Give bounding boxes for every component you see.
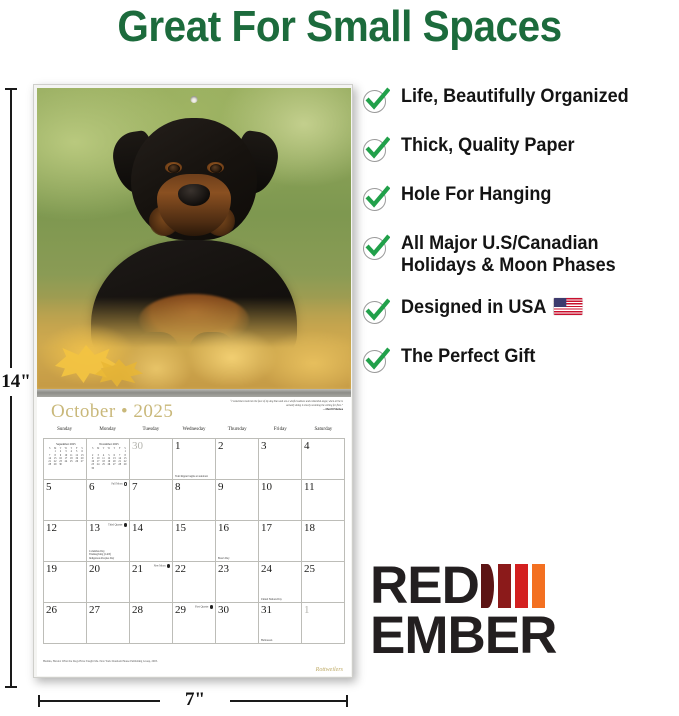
day-number: 19: [46, 563, 84, 575]
calendar-week-row: 192021New Moon222324United Nations Day25: [44, 562, 345, 603]
calendar-day-cell[interactable]: 17: [259, 521, 302, 562]
feature-label: Hole For Hanging: [401, 184, 551, 206]
logo-bar-1: [481, 564, 494, 608]
check-circle-icon: [362, 298, 390, 326]
calendar-day-cell[interactable]: 29First Quarter: [173, 603, 216, 644]
day-number: 3: [261, 440, 299, 452]
calendar-day-cell[interactable]: 15: [173, 521, 216, 562]
feature-label: Designed in USA: [401, 297, 583, 319]
day-number: 11: [304, 481, 342, 493]
logo-bar-2: [498, 564, 511, 608]
day-number: 25: [304, 563, 342, 575]
calendar-day-cell[interactable]: 24United Nations Day: [259, 562, 302, 603]
day-number: 2: [218, 440, 256, 452]
calendar-day-cell[interactable]: 1Yom Kippur begins at sundown: [173, 439, 216, 480]
day-number: 23: [218, 563, 256, 575]
holiday-event-label: United Nations Day: [261, 598, 299, 601]
calendar-day-cell[interactable]: 31Halloween: [259, 603, 302, 644]
moon-phase-label: New Moon: [154, 564, 170, 568]
feature-label: Thick, Quality Paper: [401, 135, 575, 157]
day-number: 7: [132, 481, 170, 493]
day-number: 10: [261, 481, 299, 493]
feature-item: Designed in USA: [362, 297, 674, 326]
photo-credit: Hashna, Harold. What the Dogs Have Taugh…: [43, 660, 345, 664]
hanging-hole: [191, 96, 198, 103]
check-circle-icon: [362, 185, 390, 213]
logo-text-red: RED: [370, 563, 479, 609]
dimension-height-label: 14": [0, 368, 32, 396]
calendar-day-cell[interactable]: 3: [259, 439, 302, 480]
day-number: 12: [46, 522, 84, 534]
day-header-sunday: Sunday: [43, 427, 86, 438]
mini-day-cell: [79, 463, 84, 466]
dog-eye-right: [210, 164, 222, 173]
day-number: 30: [218, 604, 256, 616]
check-glyph: [364, 136, 390, 162]
day-header-thursday: Thursday: [216, 427, 259, 438]
dimension-width-label: 7": [160, 689, 230, 711]
check-circle-icon: [362, 136, 390, 164]
calendar-day-cell[interactable]: 19: [44, 562, 87, 603]
calendar-week-row: 26272829First Quarter3031Halloween1: [44, 603, 345, 644]
mini-month-grid: SMTWTFS123456789101112131415161718192021…: [47, 447, 85, 467]
event-line: Yom Kippur begins at sundown: [175, 475, 213, 478]
mini-month-title: November 2025: [90, 442, 128, 446]
logo-bar-4: [532, 564, 545, 608]
event-line: Halloween: [261, 639, 299, 642]
calendar-product-image: October • 2025 “I sometimes look into th…: [33, 84, 353, 678]
holiday-event-label: Boss's Day: [218, 557, 256, 560]
day-number: 8: [175, 481, 213, 493]
logo-text-ember: EMBER: [370, 611, 660, 661]
feature-list: Life, Beautifully OrganizedThick, Qualit…: [362, 86, 674, 395]
calendar-day-cell[interactable]: 30: [130, 439, 173, 480]
calendar-day-cell[interactable]: 8: [173, 480, 216, 521]
calendar-day-cell[interactable]: 26: [44, 603, 87, 644]
check-glyph: [364, 87, 390, 113]
moon-phase-label: First Quarter: [195, 605, 213, 609]
calendar-day-cell[interactable]: 13Third QuarterColumbus DayThanksgiving …: [87, 521, 130, 562]
moon-phase-icon: [210, 605, 214, 609]
red-ember-logo: RED EMBER: [370, 563, 660, 661]
feature-item: Hole For Hanging: [362, 184, 674, 213]
calendar-footer: Hashna, Harold. What the Dogs Have Taugh…: [43, 660, 345, 674]
calendar-day-cell[interactable]: 18: [302, 521, 345, 562]
moon-phase-icon: [124, 523, 128, 527]
quote-author: —Merrill Markoe: [225, 408, 343, 412]
day-number: 18: [304, 522, 342, 534]
calendar-day-cell[interactable]: 2: [216, 439, 259, 480]
day-number: 5: [46, 481, 84, 493]
day-header-saturday: Saturday: [302, 427, 345, 438]
mini-month-grid: SMTWTFS123456789101112131415161718192021…: [90, 447, 128, 470]
day-of-week-header-row: SundayMondayTuesdayWednesdayThursdayFrid…: [37, 427, 351, 438]
calendar-day-cell[interactable]: 27: [87, 603, 130, 644]
logo-line-one: RED: [370, 563, 660, 609]
feature-label: Life, Beautifully Organized: [401, 86, 629, 108]
logo-ember-bars: [481, 563, 549, 609]
dog-eye-left: [168, 164, 180, 173]
feature-label: The Perfect Gift: [401, 346, 535, 368]
feature-item: All Major U.S/Canadian Holidays & Moon P…: [362, 233, 674, 277]
calendar-photo-panel: [37, 88, 351, 389]
calendar-day-cell[interactable]: 9: [216, 480, 259, 521]
check-circle-icon: [362, 87, 390, 115]
day-header-monday: Monday: [86, 427, 129, 438]
day-number: 9: [218, 481, 256, 493]
event-line: United Nations Day: [261, 598, 299, 601]
calendar-day-cell[interactable]: 7: [130, 480, 173, 521]
calendar-day-cell[interactable]: September 2025SMTWTFS1234567891011121314…: [44, 439, 87, 480]
check-glyph: [364, 185, 390, 211]
moon-phase-icon: [167, 564, 171, 568]
calendar-quote: “I sometimes look into the face of my do…: [225, 400, 343, 412]
day-header-wednesday: Wednesday: [172, 427, 215, 438]
calendar-day-cell[interactable]: 6Full Moon: [87, 480, 130, 521]
check-glyph: [364, 347, 390, 373]
holiday-event-label: Columbus DayThanksgiving (CAN)Indigenous…: [89, 550, 127, 560]
calendar-day-cell[interactable]: 16Boss's Day: [216, 521, 259, 562]
day-number: 27: [89, 604, 127, 616]
calendar-day-cell[interactable]: 14: [130, 521, 173, 562]
day-number: 24: [261, 563, 299, 575]
calendar-day-cell[interactable]: 23: [216, 562, 259, 603]
usa-flag-icon: [554, 298, 583, 315]
calendar-day-cell[interactable]: 30: [216, 603, 259, 644]
day-number: 31: [261, 604, 299, 616]
feature-item: Thick, Quality Paper: [362, 135, 674, 164]
day-header-tuesday: Tuesday: [129, 427, 172, 438]
breed-name-label: Rottweilers: [316, 667, 343, 673]
calendar-day-cell[interactable]: 11: [302, 480, 345, 521]
feature-item: The Perfect Gift: [362, 346, 674, 375]
mini-month-calendar: November 2025SMTWTFS12345678910111213141…: [90, 442, 128, 470]
day-number: 16: [218, 522, 256, 534]
calendar-week-row: September 2025SMTWTFS1234567891011121314…: [44, 439, 345, 480]
day-number: 26: [46, 604, 84, 616]
calendar-day-cell[interactable]: 25: [302, 562, 345, 603]
calendar-grid-page: October • 2025 “I sometimes look into th…: [37, 397, 351, 676]
event-line: Boss's Day: [218, 557, 256, 560]
calendar-week-row: 1213Third QuarterColumbus DayThanksgivin…: [44, 521, 345, 562]
moon-phase-icon: [124, 482, 128, 486]
check-glyph: [364, 234, 390, 260]
calendar-day-cell[interactable]: 20: [87, 562, 130, 603]
calendar-day-cell[interactable]: 4: [302, 439, 345, 480]
quote-text: “I sometimes look into the face of my do…: [230, 400, 343, 407]
day-number: 1: [175, 440, 213, 452]
day-number: 28: [132, 604, 170, 616]
day-header-friday: Friday: [259, 427, 302, 438]
mini-month-title: September 2025: [47, 442, 85, 446]
check-circle-icon: [362, 347, 390, 375]
holiday-event-label: Halloween: [261, 639, 299, 642]
moon-phase-label: Full Moon: [111, 482, 127, 486]
check-circle-icon: [362, 234, 390, 262]
day-number: 17: [261, 522, 299, 534]
day-number: 1: [304, 604, 342, 616]
mini-day-cell: [122, 467, 127, 470]
feature-item: Life, Beautifully Organized: [362, 86, 674, 115]
calendar-day-cell[interactable]: 1: [302, 603, 345, 644]
calendar-day-cell[interactable]: 28: [130, 603, 173, 644]
moon-phase-label: Third Quarter: [108, 523, 127, 527]
day-number: 14: [132, 522, 170, 534]
calendar-day-cell[interactable]: 22: [173, 562, 216, 603]
event-line: Indigenous Peoples Day: [89, 557, 127, 560]
day-number: 15: [175, 522, 213, 534]
day-number: 30: [132, 440, 170, 452]
calendar-month-header: October • 2025 “I sometimes look into th…: [37, 397, 351, 427]
calendar-day-cell[interactable]: 12: [44, 521, 87, 562]
day-number: 22: [175, 563, 213, 575]
calendar-day-cell[interactable]: November 2025SMTWTFS12345678910111213141…: [87, 439, 130, 480]
calendar-binding-strip: [37, 389, 351, 397]
holiday-event-label: Yom Kippur begins at sundown: [175, 475, 213, 478]
calendar-day-cell[interactable]: 5: [44, 480, 87, 521]
mini-month-calendar: September 2025SMTWTFS1234567891011121314…: [47, 442, 85, 467]
feature-label: All Major U.S/Canadian Holidays & Moon P…: [401, 233, 660, 277]
calendar-weeks: September 2025SMTWTFS1234567891011121314…: [43, 438, 345, 644]
logo-bar-3: [515, 564, 528, 608]
check-glyph: [364, 298, 390, 324]
calendar-day-cell[interactable]: 10: [259, 480, 302, 521]
calendar-week-row: 56Full Moon7891011: [44, 480, 345, 521]
day-number: 4: [304, 440, 342, 452]
calendar-day-cell[interactable]: 21New Moon: [130, 562, 173, 603]
page-title: Great For Small Spaces: [27, 2, 652, 52]
day-number: 20: [89, 563, 127, 575]
